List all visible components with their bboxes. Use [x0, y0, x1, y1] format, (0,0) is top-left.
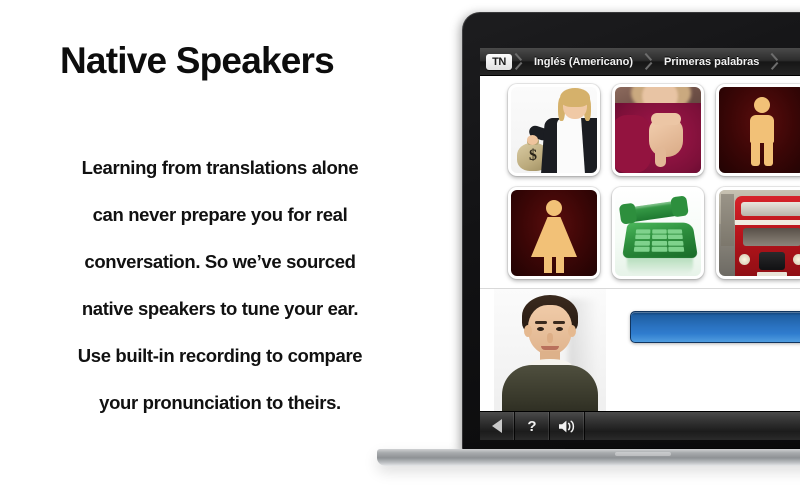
speaker-area: bathr [480, 288, 800, 414]
marketing-body: Learning from translations alone can nev… [18, 144, 422, 426]
bus-headlight-right [793, 254, 800, 265]
image-tile-bus[interactable] [716, 187, 800, 279]
man-torso-icon [750, 115, 774, 143]
body-line: your pronunciation to theirs. [18, 379, 422, 426]
presenter-ear-right [568, 325, 576, 337]
image-grid-row: $ [508, 84, 800, 176]
presenter-ear-left [524, 325, 532, 337]
presenter-brow-left [535, 321, 547, 324]
image-tile-mens-restroom[interactable] [716, 84, 800, 176]
speaker-icon [558, 419, 576, 434]
laptop-base [377, 449, 800, 466]
toolbar-filler [585, 412, 800, 440]
native-speaker-video[interactable] [494, 289, 606, 414]
help-button[interactable]: ? [515, 412, 550, 440]
bus-windshield [743, 228, 800, 246]
image-tile-money[interactable]: $ [508, 84, 600, 176]
body-line: native speakers to tune your ear. [18, 285, 422, 332]
sleeve-shape [615, 115, 651, 173]
presenter-eye-left [537, 327, 544, 331]
tn-logo-icon[interactable]: TN [486, 54, 512, 70]
presenter-eye-right [556, 327, 563, 331]
woman-leg-right [556, 255, 564, 273]
thumb-shape [655, 147, 666, 167]
laptop-mockup: TN Inglés (Americano) Primeras palabras … [455, 12, 800, 482]
woman-dress-icon [531, 217, 577, 257]
woman-leg-left [544, 255, 552, 273]
presenter-mouth [541, 346, 559, 350]
phone-handset-icon [622, 200, 685, 223]
bus-grille [759, 252, 785, 270]
answer-button[interactable]: bathr [630, 311, 800, 343]
bus-band [735, 220, 800, 225]
chevron-right-icon [512, 48, 525, 75]
image-tile-telephone[interactable] [612, 187, 704, 279]
phone-keypad [634, 229, 685, 251]
presenter-brow-right [553, 321, 565, 324]
hand-shape [527, 135, 538, 145]
bus-upper-window [741, 202, 800, 216]
page-title: Native Speakers [60, 40, 334, 82]
man-leg-left [751, 141, 760, 166]
body-line: conversation. So we’ve sourced [18, 238, 422, 285]
woman-head-icon [546, 200, 562, 216]
bus-license-plate [757, 272, 787, 276]
image-grid-row [508, 187, 800, 279]
body-line: Learning from translations alone [18, 144, 422, 191]
back-button[interactable] [480, 412, 515, 440]
breadcrumb: TN Inglés (Americano) Primeras palabras [480, 48, 800, 76]
app-screen: TN Inglés (Americano) Primeras palabras … [480, 48, 800, 440]
phone-reflection [627, 258, 693, 274]
body-line: can never prepare you for real [18, 191, 422, 238]
image-tile-thumbs-down[interactable] [612, 84, 704, 176]
bus-headlight-left [739, 254, 750, 265]
question-mark-icon: ? [527, 419, 536, 434]
image-grid: $ [480, 76, 800, 288]
image-tile-womens-restroom[interactable] [508, 187, 600, 279]
body-line: Use built-in recording to compare [18, 332, 422, 379]
presenter-nose [547, 333, 553, 343]
hair-top [560, 88, 590, 107]
breadcrumb-item-lesson[interactable]: Primeras palabras [655, 56, 768, 68]
laptop-base-notch [615, 452, 671, 456]
jacket-right [581, 118, 597, 173]
knuckles-shape [651, 113, 681, 125]
presenter-sweater [502, 365, 598, 414]
man-head-icon [754, 97, 770, 113]
tower-shape [721, 194, 734, 246]
breadcrumb-item-language[interactable]: Inglés (Americano) [525, 56, 642, 68]
chevron-right-icon [642, 48, 655, 75]
marketing-panel: Native Speakers Learning from translatio… [0, 0, 440, 500]
app-toolbar: ? [480, 411, 800, 440]
sound-button[interactable] [550, 412, 585, 440]
back-arrow-icon [492, 419, 502, 433]
chevron-right-icon [768, 48, 781, 75]
man-leg-right [764, 141, 773, 166]
